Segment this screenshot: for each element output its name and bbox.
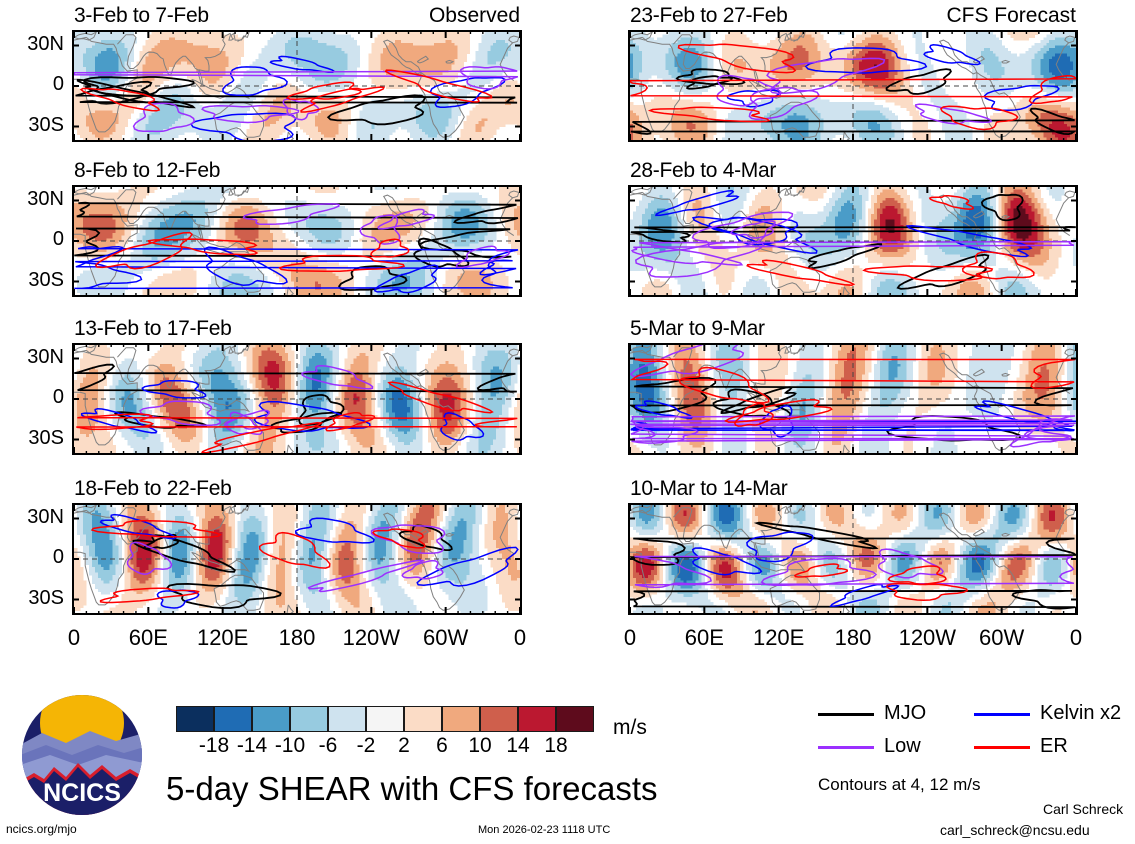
map-plot-area: [628, 343, 1078, 455]
legend-swatch-er: [974, 746, 1030, 749]
legend-label-mjo: MJO: [884, 702, 926, 725]
site-url[interactable]: ncics.org/mjo: [6, 822, 77, 836]
map-plot-area: [72, 343, 522, 455]
y-axis-tick-label: 30S: [4, 114, 64, 137]
panel-title: 5-Mar to 9-Mar: [630, 317, 765, 341]
map-plot-area: [72, 30, 522, 142]
colorbar-segment: [518, 706, 556, 732]
panel-title: 8-Feb to 12-Feb: [74, 159, 220, 183]
colorbar-tick-label: 18: [526, 734, 586, 758]
y-axis-tick-label: 30N: [4, 188, 64, 211]
legend-label-kelvin-x2: Kelvin x2: [1040, 702, 1121, 725]
colorbar-segment: [556, 706, 594, 732]
y-axis-tick-label: 30N: [4, 33, 64, 56]
colorbar-units-label: m/s: [613, 716, 647, 740]
author-email: carl_schreck@ncsu.edu: [940, 822, 1090, 838]
colorbar: [176, 706, 594, 732]
y-axis-tick-label: 0: [4, 546, 64, 569]
legend-swatch-mjo: [818, 713, 874, 716]
contour-note: Contours at 4, 12 m/s: [818, 775, 981, 795]
y-axis-tick-label: 30S: [4, 587, 64, 610]
ncics-logo: NCICS: [20, 693, 144, 817]
panel-title: 28-Feb to 4-Mar: [630, 159, 776, 183]
colorbar-segment: [366, 706, 404, 732]
x-axis-tick-label: 0: [475, 625, 565, 651]
timestamp: Mon 2026-02-23 1118 UTC: [478, 824, 610, 836]
colorbar-segment: [442, 706, 480, 732]
y-axis-tick-label: 30N: [4, 506, 64, 529]
y-axis-tick-label: 30N: [4, 346, 64, 369]
map-plot-area: [628, 30, 1078, 142]
author-name: Carl Schreck: [1043, 801, 1123, 817]
colorbar-segment: [290, 706, 328, 732]
main-title: 5-day SHEAR with CFS forecasts: [166, 770, 658, 808]
panel-title: 13-Feb to 17-Feb: [74, 317, 231, 341]
column-header-forecast: CFS Forecast: [946, 4, 1076, 28]
legend-swatch-kelvin-x2: [974, 713, 1030, 716]
panel-title: 23-Feb to 27-Feb: [630, 4, 787, 28]
legend-label-low: Low: [884, 735, 921, 758]
colorbar-segment: [328, 706, 366, 732]
map-plot-area: [72, 503, 522, 615]
column-header-observed: Observed: [429, 4, 520, 28]
colorbar-segment: [214, 706, 252, 732]
y-axis-tick-label: 0: [4, 73, 64, 96]
y-axis-tick-label: 30S: [4, 269, 64, 292]
y-axis-tick-label: 0: [4, 386, 64, 409]
map-plot-area: [628, 185, 1078, 297]
legend-swatch-low: [818, 746, 874, 749]
map-plot-area: [72, 185, 522, 297]
colorbar-segment: [480, 706, 518, 732]
panel-title: 10-Mar to 14-Mar: [630, 477, 787, 501]
map-plot-area: [628, 503, 1078, 615]
y-axis-tick-label: 30S: [4, 427, 64, 450]
legend-label-er: ER: [1040, 735, 1068, 758]
colorbar-segment: [176, 706, 214, 732]
y-axis-tick-label: 0: [4, 228, 64, 251]
colorbar-segment: [404, 706, 442, 732]
panel-title: 18-Feb to 22-Feb: [74, 477, 231, 501]
x-axis-tick-label: 0: [1031, 625, 1121, 651]
panel-title: 3-Feb to 7-Feb: [74, 4, 209, 28]
logo-text: NCICS: [43, 779, 121, 807]
colorbar-segment: [252, 706, 290, 732]
